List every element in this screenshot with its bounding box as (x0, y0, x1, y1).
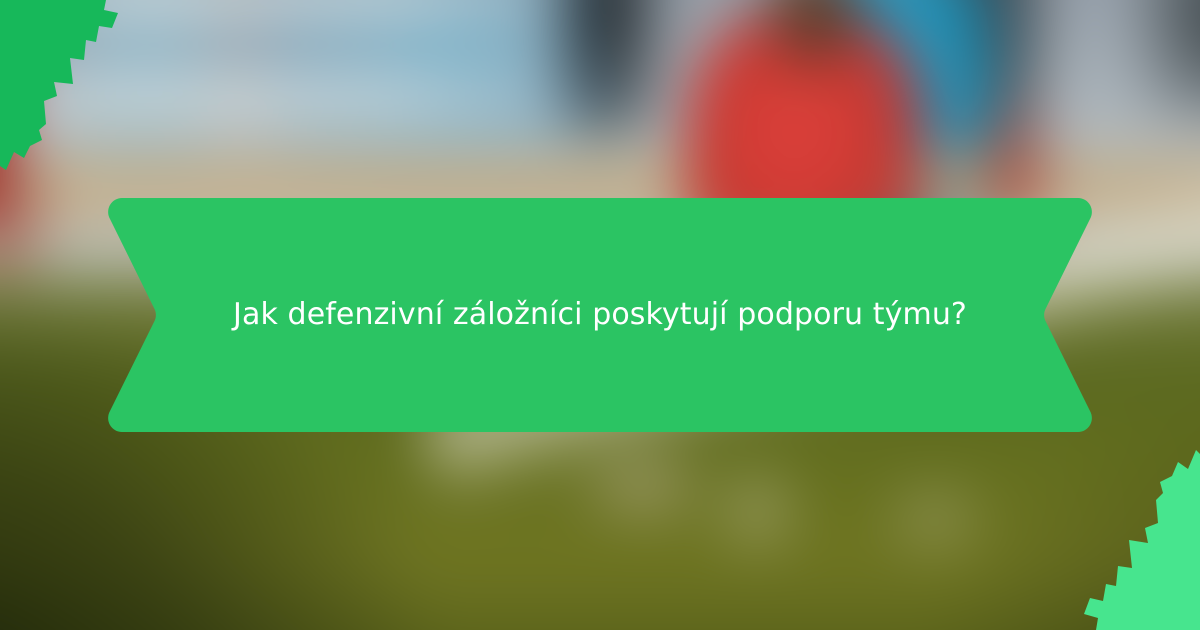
headline-text: Jak defenzivní záložníci poskytují podpo… (108, 198, 1092, 432)
torn-edge-path-bottom-right (1084, 450, 1200, 630)
torn-paper-decoration-bottom-right (1070, 420, 1200, 630)
social-card: Jak defenzivní záložníci poskytují podpo… (0, 0, 1200, 630)
headline-banner: Jak defenzivní záložníci poskytují podpo… (108, 198, 1092, 432)
torn-edge-path-top-left (0, 0, 118, 170)
torn-paper-decoration-top-left (0, 0, 130, 200)
